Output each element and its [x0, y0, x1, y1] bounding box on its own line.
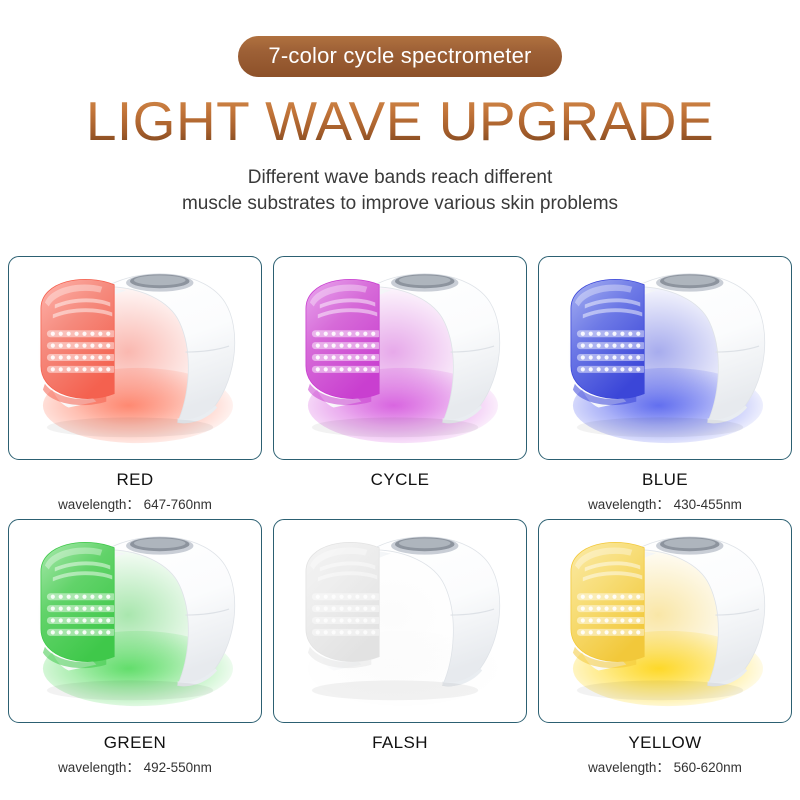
- card-caption: YELLOWwavelength： 560-620nm: [538, 723, 792, 778]
- card-color-name: CYCLE: [273, 470, 527, 490]
- device-image-green: [9, 520, 261, 722]
- device-illustration: [274, 520, 526, 722]
- badge-row: 7-color cycle spectrometer: [0, 0, 800, 77]
- product-card-green: GREENwavelength： 492-550nm: [8, 519, 262, 778]
- card-caption: BLUEwavelength： 430-455nm: [538, 460, 792, 515]
- device-image-falsh: [274, 520, 526, 722]
- card-caption: REDwavelength： 647-760nm: [8, 460, 262, 515]
- device-image-cycle: [274, 257, 526, 459]
- subtitle-line-1: Different wave bands reach different: [0, 165, 800, 191]
- card-color-name: YELLOW: [538, 733, 792, 753]
- device-photo-frame: [273, 519, 527, 723]
- subtitle-line-2: muscle substrates to improve various ski…: [0, 191, 800, 217]
- product-card-yellow: YELLOWwavelength： 560-620nm: [538, 519, 792, 778]
- card-caption: GREENwavelength： 492-550nm: [8, 723, 262, 778]
- infographic-page: 7-color cycle spectrometer LIGHT WAVE UP…: [0, 0, 800, 800]
- device-photo-frame: [273, 256, 527, 460]
- card-wavelength: wavelength： 430-455nm: [538, 495, 792, 515]
- device-image-yellow: [539, 520, 791, 722]
- device-photo-frame: [8, 256, 262, 460]
- device-image-blue: [539, 257, 791, 459]
- device-photo-frame: [538, 256, 792, 460]
- card-color-name: RED: [8, 470, 262, 490]
- card-color-name: BLUE: [538, 470, 792, 490]
- card-wavelength: wavelength： 492-550nm: [8, 758, 262, 778]
- page-title: LIGHT WAVE UPGRADE: [0, 93, 800, 151]
- card-wavelength: wavelength： 647-760nm: [8, 495, 262, 515]
- product-card-falsh: FALSH: [273, 519, 527, 778]
- device-illustration: [539, 520, 791, 722]
- device-illustration: [539, 257, 791, 459]
- product-card-grid: REDwavelength： 647-760nm: [8, 256, 792, 778]
- device-photo-frame: [538, 519, 792, 723]
- device-photo-frame: [8, 519, 262, 723]
- product-badge: 7-color cycle spectrometer: [238, 36, 561, 77]
- product-card-blue: BLUEwavelength： 430-455nm: [538, 256, 792, 515]
- product-card-cycle: CYCLE: [273, 256, 527, 515]
- device-image-red: [9, 257, 261, 459]
- card-color-name: FALSH: [273, 733, 527, 753]
- card-color-name: GREEN: [8, 733, 262, 753]
- product-card-red: REDwavelength： 647-760nm: [8, 256, 262, 515]
- subtitle: Different wave bands reach different mus…: [0, 165, 800, 217]
- device-illustration: [274, 257, 526, 459]
- device-illustration: [9, 520, 261, 722]
- card-wavelength: wavelength： 560-620nm: [538, 758, 792, 778]
- card-caption: CYCLE: [273, 460, 527, 490]
- card-caption: FALSH: [273, 723, 527, 753]
- device-illustration: [9, 257, 261, 459]
